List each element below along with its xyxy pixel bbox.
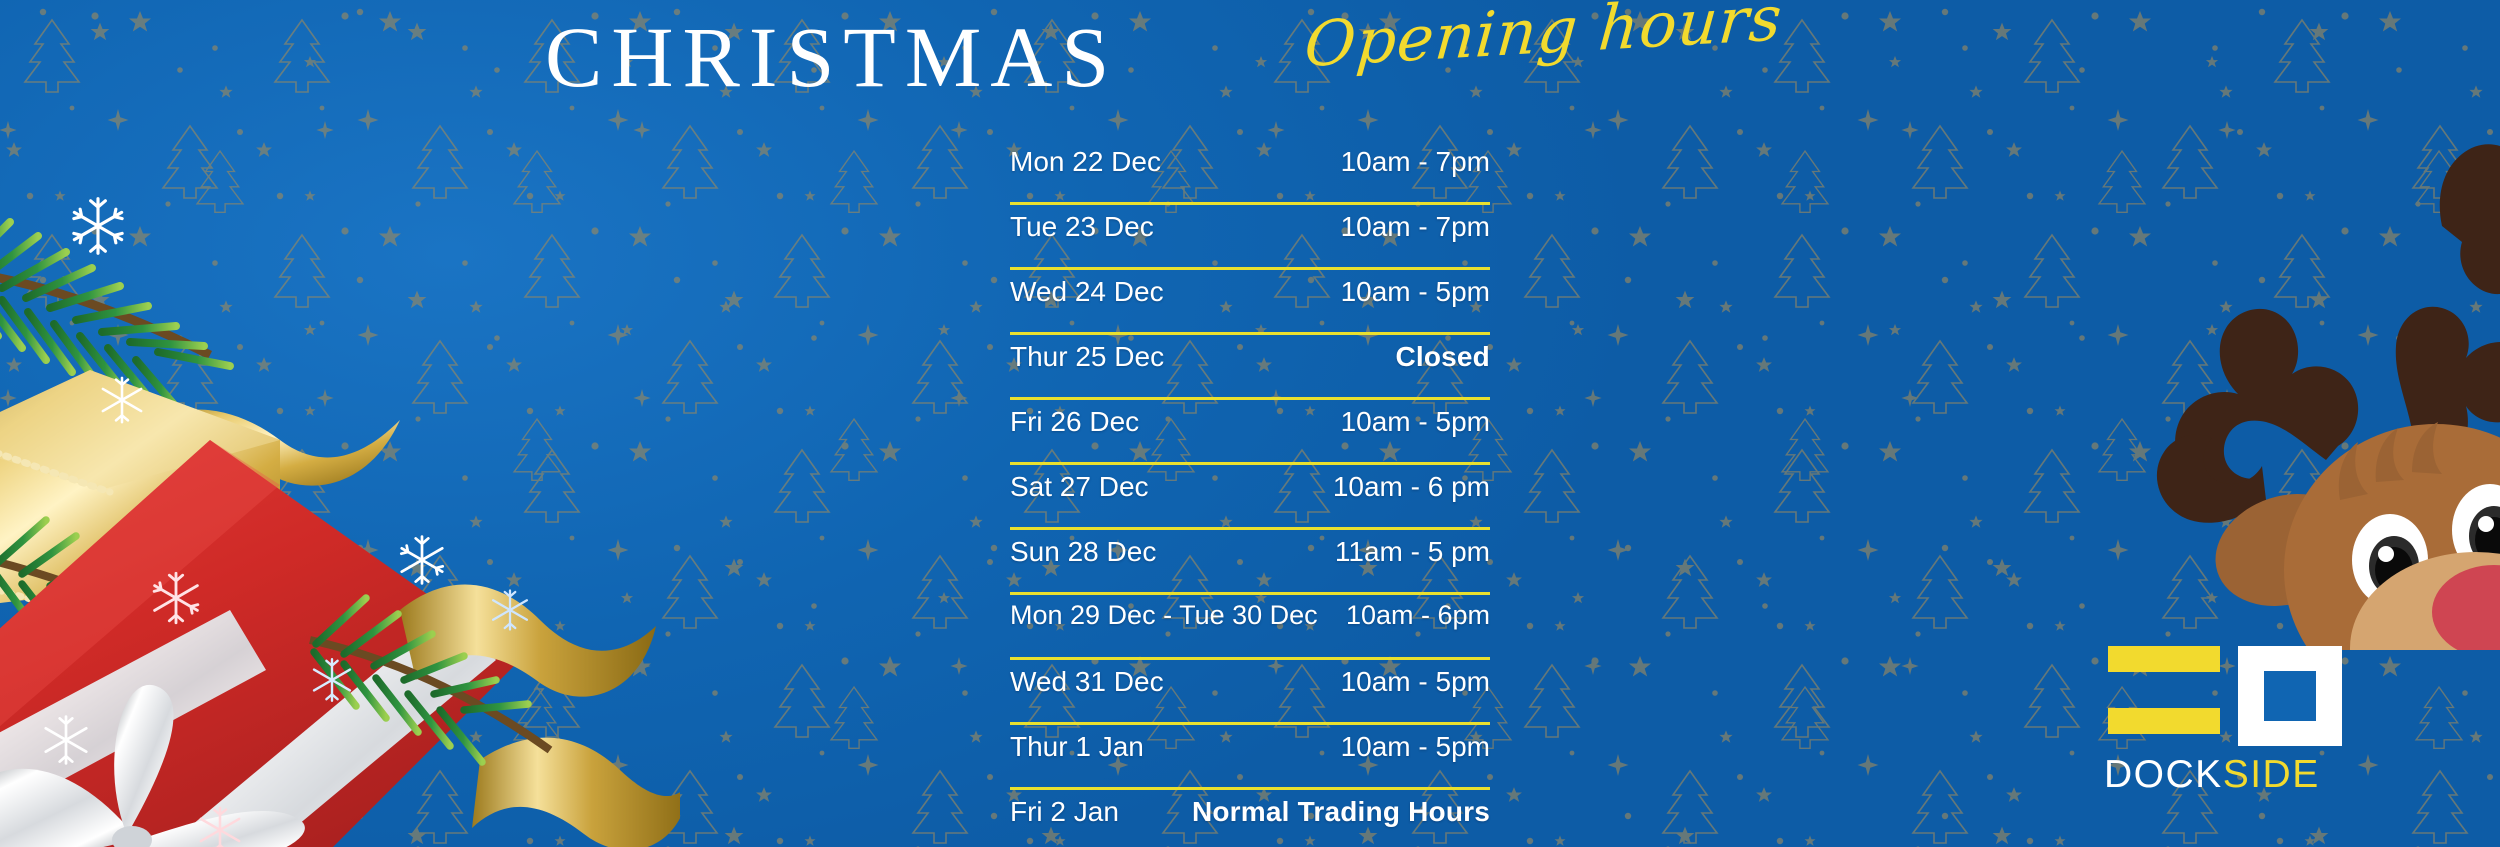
time-value: 10am - 7pm [1341,209,1490,244]
time-value: Normal Trading Hours [1192,794,1490,829]
time-value: 10am - 7pm [1341,144,1490,179]
reindeer-illustration [2090,30,2500,650]
logo-bar-top [2108,646,2220,672]
christmas-gift-boxes-illustration [0,140,680,847]
logo-wordmark: DOCKSIDE [2104,753,2320,797]
table-row: Wed 31 Dec10am - 5pm [1010,660,1490,725]
time-value: 11am - 5 pm [1335,534,1490,569]
day-label: Tue 23 Dec [1010,209,1154,244]
table-row: Sun 28 Dec11am - 5 pm [1010,530,1490,595]
table-row: Mon 29 Dec - Tue 30 Dec10am - 6pm [1010,595,1490,660]
logo-square-inner [2264,671,2316,721]
time-value: 10am - 5pm [1341,274,1490,309]
day-label: Mon 29 Dec - Tue 30 Dec [1010,599,1318,633]
day-label: Thur 1 Jan [1010,729,1144,764]
table-row: Tue 23 Dec10am - 7pm [1010,205,1490,270]
logo-bar-bottom [2108,708,2220,734]
time-value: 10am - 6 pm [1333,469,1490,504]
time-value: 10am - 5pm [1341,664,1490,699]
day-label: Thur 25 Dec [1010,339,1164,374]
logo-word-dock: DOCK [2104,753,2223,796]
opening-hours-table: Mon 22 Dec10am - 7pmTue 23 Dec10am - 7pm… [1010,140,1490,847]
table-row: Thur 1 Jan10am - 5pm [1010,725,1490,790]
time-value: 10am - 6pm [1346,599,1490,633]
table-row: Mon 22 Dec10am - 7pm [1010,140,1490,205]
dockside-logo[interactable]: DOCKSIDE [2086,640,2336,790]
day-label: Mon 22 Dec [1010,144,1161,179]
logo-word-side: SIDE [2223,753,2320,796]
day-label: Wed 31 Dec [1010,664,1164,699]
table-row: Sat 27 Dec10am - 6 pm [1010,465,1490,530]
day-label: Fri 26 Dec [1010,404,1139,439]
christmas-opening-hours-banner: CHRISTMAS Opening hours Mon 22 Dec10am -… [0,0,2500,847]
logo-square [2238,646,2342,746]
table-row: Wed 24 Dec10am - 5pm [1010,270,1490,335]
day-label: Sun 28 Dec [1010,534,1156,569]
table-row: Thur 25 DecClosed [1010,335,1490,400]
day-label: Wed 24 Dec [1010,274,1164,309]
time-value: 10am - 5pm [1341,404,1490,439]
logo-mark [2086,640,2336,732]
time-value: 10am - 5pm [1341,729,1490,764]
table-row: Fri 26 Dec10am - 5pm [1010,400,1490,465]
day-label: Fri 2 Jan [1010,794,1119,829]
day-label: Sat 27 Dec [1010,469,1149,504]
table-row: Fri 2 JanNormal Trading Hours [1010,790,1490,847]
time-value: Closed [1395,339,1490,374]
